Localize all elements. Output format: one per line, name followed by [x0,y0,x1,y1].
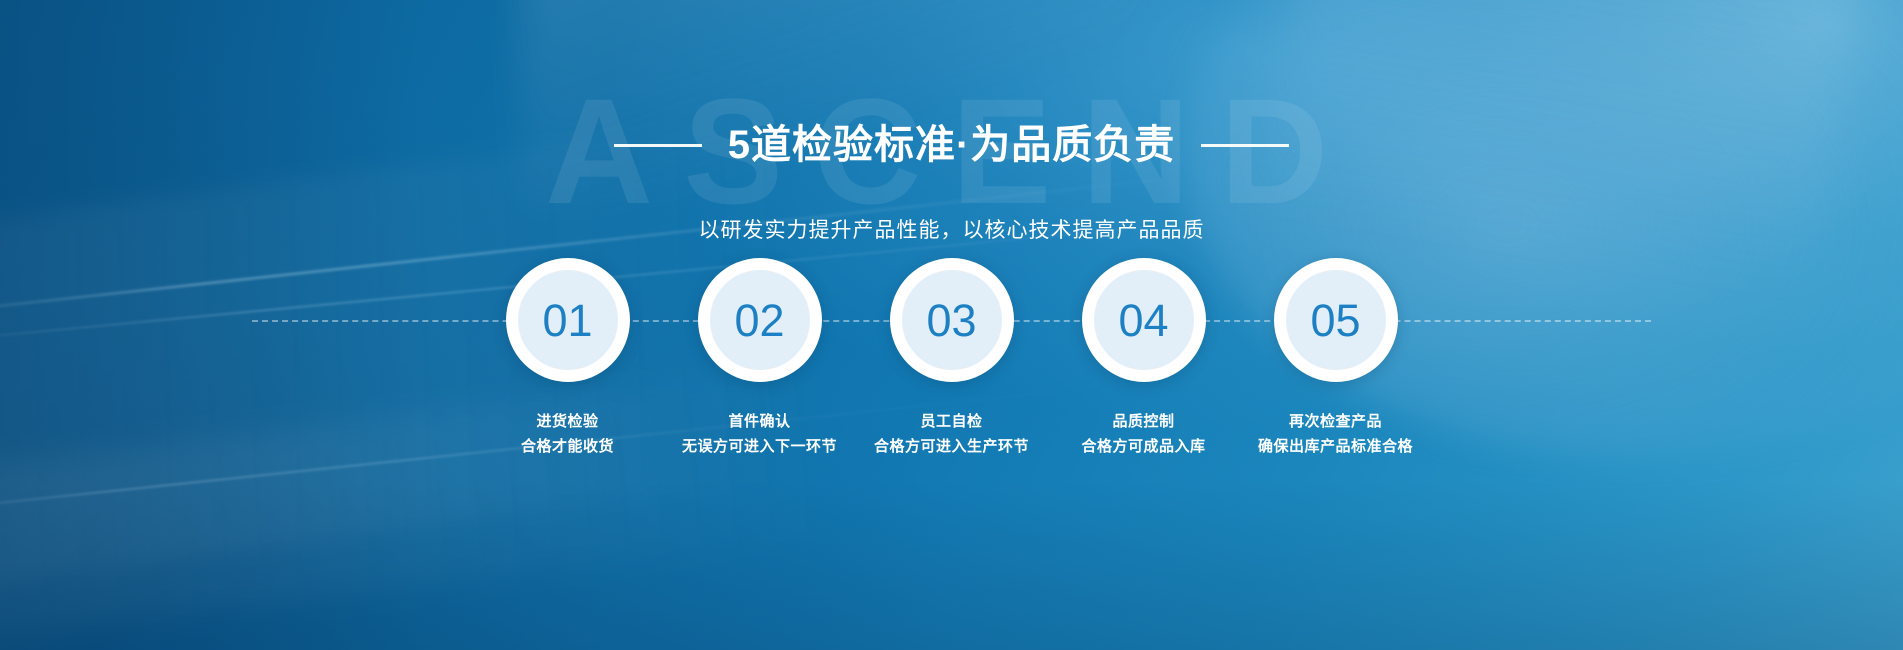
step-caption-03: 员工自检 合格方可进入生产环节 [874,410,1029,460]
step-caption-05: 再次检查产品 确保出库产品标准合格 [1258,410,1413,460]
step-number-01: 01 [542,298,592,343]
step-item-02[interactable]: 02 首件确认 无误方可进入下一环节 [674,258,846,460]
step-number-04: 04 [1118,298,1168,343]
step-bubble-04[interactable]: 04 [1082,258,1206,382]
title-rule-right [1201,144,1289,147]
step-bubble-inner-03: 03 [902,270,1002,370]
step-title-05: 再次检查产品 [1258,410,1413,435]
step-desc-05: 确保出库产品标准合格 [1258,435,1413,460]
step-caption-04: 品质控制 合格方可成品入库 [1081,410,1205,460]
step-bubble-inner-05: 05 [1286,270,1386,370]
heading-block: 5道检验标准·为品质负责 以研发实力提升产品性能，以核心技术提高产品品质 [0,96,1903,244]
step-bubble-05[interactable]: 05 [1274,258,1398,382]
step-bubble-01[interactable]: 01 [506,258,630,382]
page-title: 5道检验标准·为品质负责 [728,123,1176,168]
step-caption-01: 进货检验 合格才能收货 [521,410,614,460]
steps-section: 01 进货检验 合格才能收货 02 首件确认 无误方可进入下一环节 [0,258,1903,488]
step-number-03: 03 [926,298,976,343]
title-rule-left [614,144,702,147]
step-bubble-inner-02: 02 [710,270,810,370]
step-title-02: 首件确认 [682,410,837,435]
step-bubble-02[interactable]: 02 [698,258,822,382]
step-caption-02: 首件确认 无误方可进入下一环节 [682,410,837,460]
step-desc-03: 合格方可进入生产环节 [874,435,1029,460]
step-title-04: 品质控制 [1081,410,1205,435]
step-item-01[interactable]: 01 进货检验 合格才能收货 [482,258,654,460]
step-number-02: 02 [734,298,784,343]
step-title-03: 员工自检 [874,410,1029,435]
steps-list: 01 进货检验 合格才能收货 02 首件确认 无误方可进入下一环节 [0,258,1903,460]
background-shade-bottom [0,480,1903,650]
step-desc-04: 合格方可成品入库 [1081,435,1205,460]
step-item-03[interactable]: 03 员工自检 合格方可进入生产环节 [866,258,1038,460]
quality-standards-banner: ASCEND 5道检验标准·为品质负责 以研发实力提升产品性能，以核心技术提高产… [0,0,1903,650]
step-item-04[interactable]: 04 品质控制 合格方可成品入库 [1058,258,1230,460]
title-row: 5道检验标准·为品质负责 [0,96,1903,194]
page-subtitle: 以研发实力提升产品性能，以核心技术提高产品品质 [0,214,1903,244]
step-title-01: 进货检验 [521,410,614,435]
step-bubble-inner-04: 04 [1094,270,1194,370]
step-desc-01: 合格才能收货 [521,435,614,460]
step-bubble-inner-01: 01 [518,270,618,370]
step-number-05: 05 [1310,298,1360,343]
step-desc-02: 无误方可进入下一环节 [682,435,837,460]
step-item-05[interactable]: 05 再次检查产品 确保出库产品标准合格 [1250,258,1422,460]
step-bubble-03[interactable]: 03 [890,258,1014,382]
